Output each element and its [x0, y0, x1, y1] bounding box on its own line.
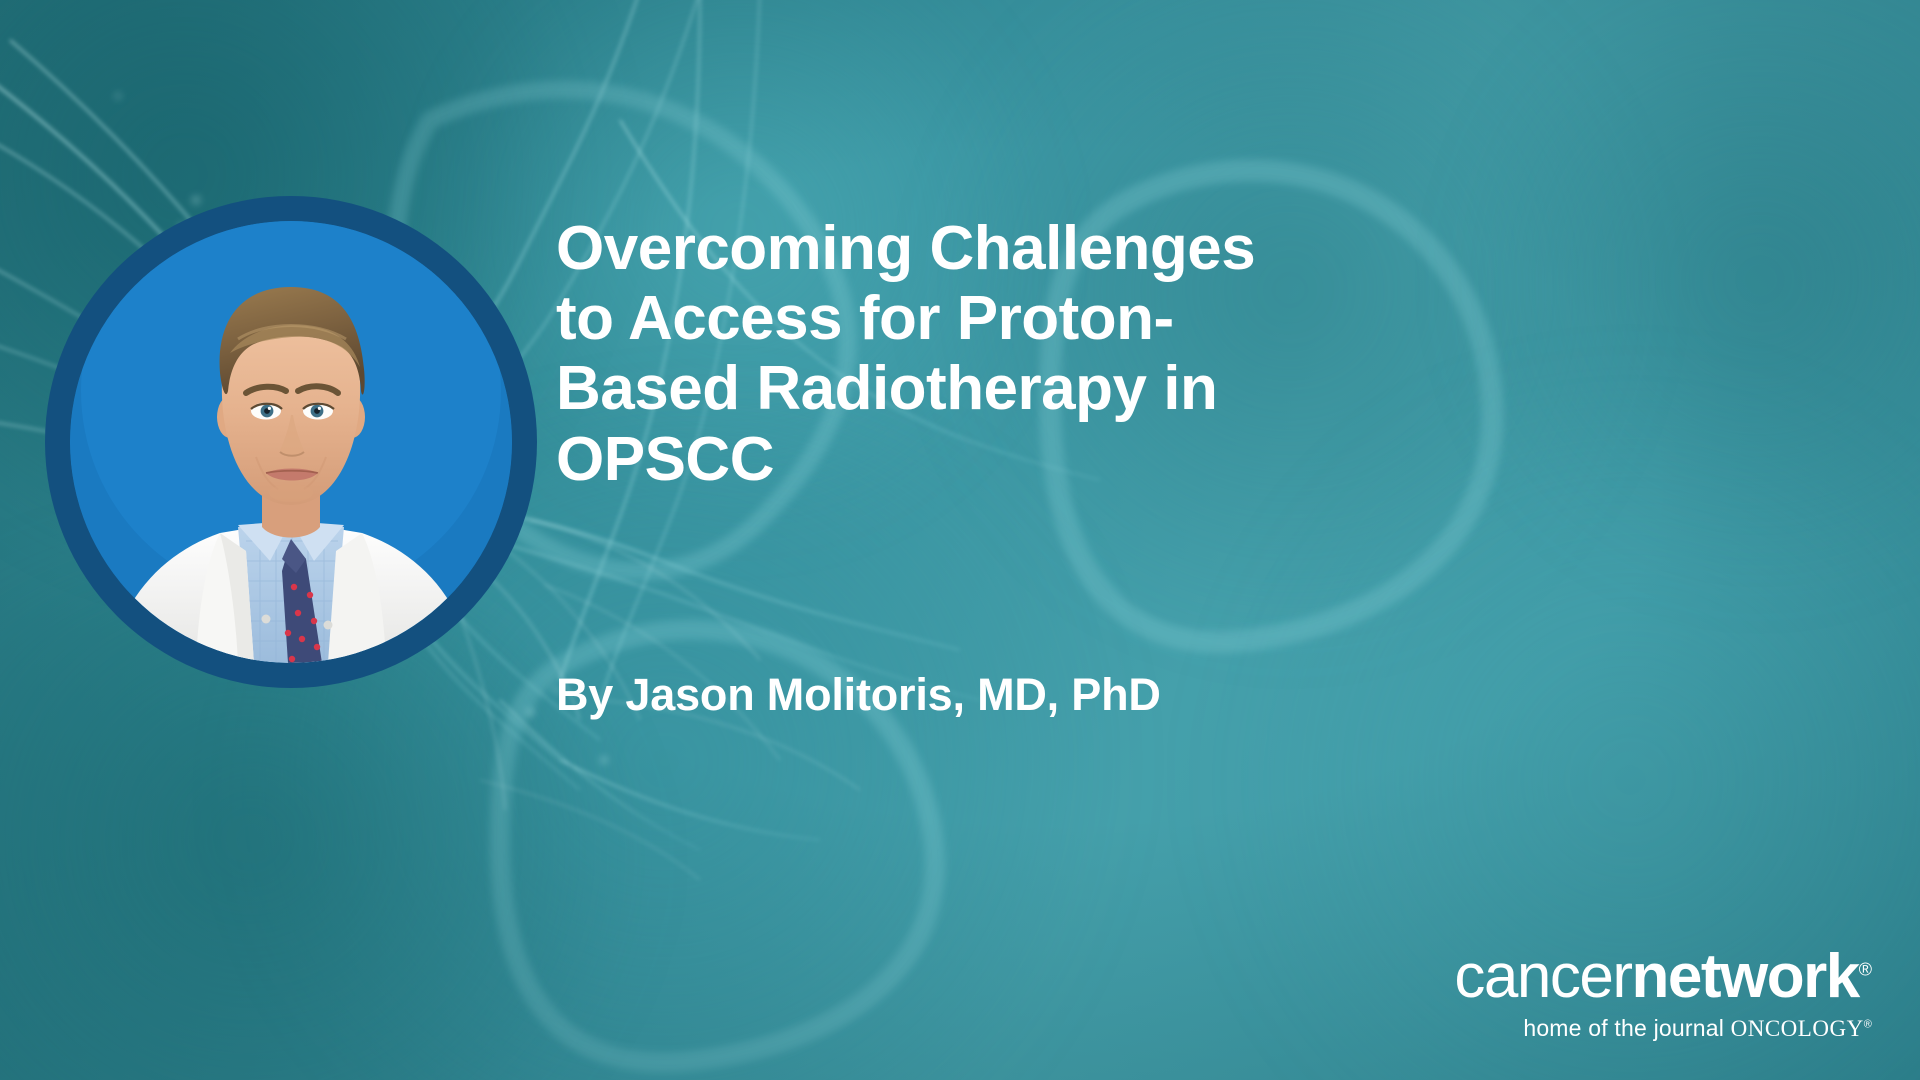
registered-trademark-icon: ® [1859, 959, 1872, 979]
headline-line-1: Overcoming Challenges [556, 214, 1436, 284]
byline: By Jason Molitoris, MD, PhD [556, 669, 1161, 721]
logo-tagline-brand: ONCOLOGY [1731, 1016, 1864, 1041]
headline-line-2: to Access for Proton- [556, 284, 1436, 354]
logo-tagline-prefix: home of the journal [1523, 1015, 1730, 1041]
page-title: Overcoming Challenges to Access for Prot… [556, 214, 1436, 495]
headline-line-3: Based Radiotherapy in [556, 354, 1436, 424]
logo-word-cancer: cancer [1454, 942, 1631, 1011]
registered-trademark-small-icon: ® [1864, 1018, 1872, 1030]
logo-wordmark: cancernetwork® [1454, 946, 1872, 1008]
headline-line-4: OPSCC [556, 425, 1436, 495]
logo-tagline: home of the journal ONCOLOGY® [1454, 1017, 1872, 1040]
cancernetwork-logo[interactable]: cancernetwork® home of the journal ONCOL… [1454, 946, 1872, 1040]
avatar [45, 196, 537, 688]
logo-word-network: network [1632, 942, 1859, 1011]
promo-card: Overcoming Challenges to Access for Prot… [0, 0, 1920, 1080]
avatar-photo [70, 221, 512, 663]
